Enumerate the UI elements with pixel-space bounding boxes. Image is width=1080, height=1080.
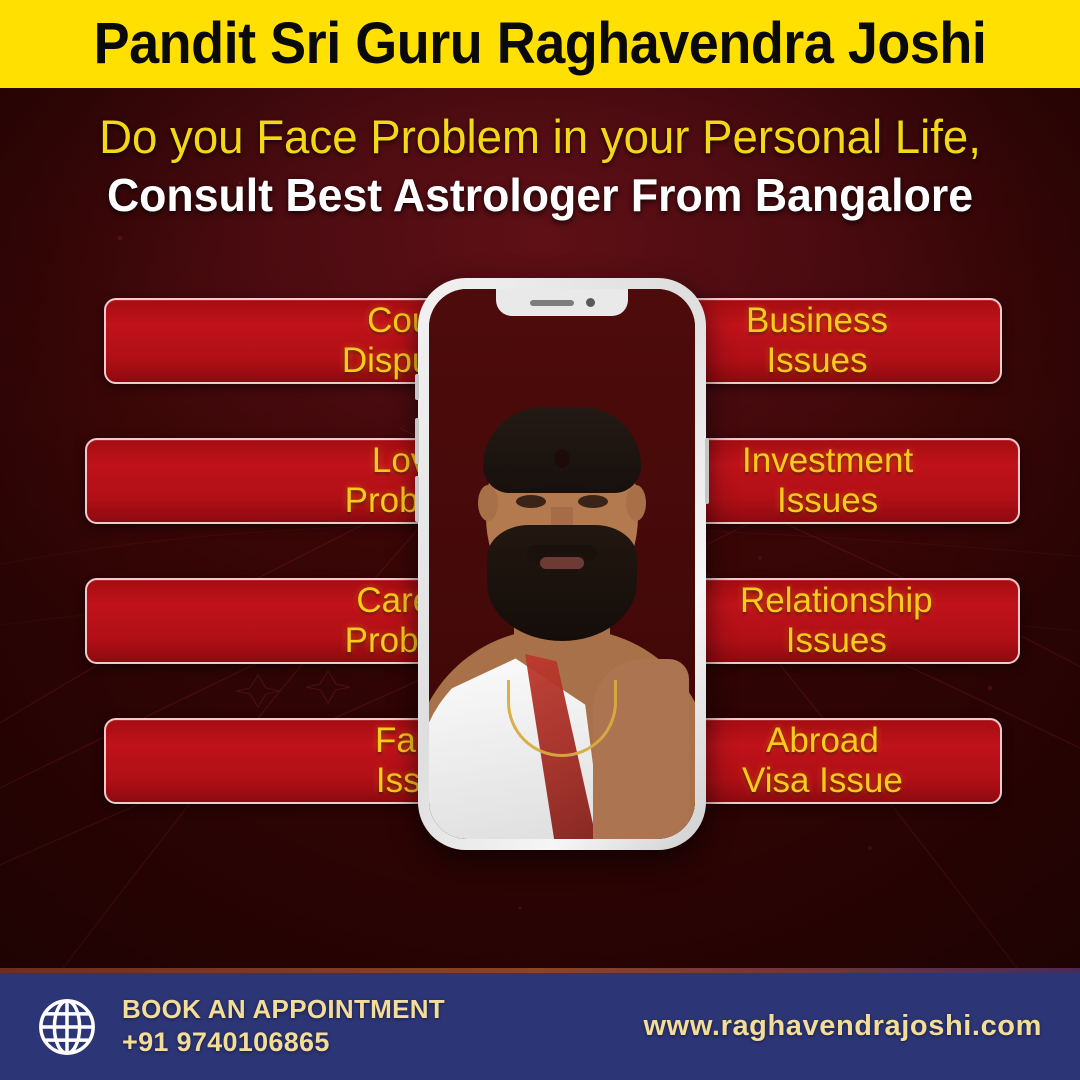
service-label: RelationshipIssues (740, 581, 933, 660)
headline-line-2: Consult Best Astrologer From Bangalore (16, 171, 1064, 220)
phone-volume-down-button (415, 476, 419, 522)
headline-line-1: Do you Face Problem in your Personal Lif… (16, 112, 1064, 162)
front-camera-icon (586, 298, 595, 307)
globe-icon (36, 996, 98, 1058)
service-label: InvestmentIssues (742, 441, 913, 520)
phone-silent-switch (415, 374, 419, 400)
astrologer-portrait (429, 289, 695, 839)
title-banner: Pandit Sri Guru Raghavendra Joshi (0, 0, 1080, 88)
page-title: Pandit Sri Guru Raghavendra Joshi (94, 15, 987, 73)
phone-power-button (705, 438, 709, 504)
speaker-grille-icon (530, 300, 574, 306)
footer-bar: BOOK AN APPOINTMENT +91 9740106865 www.r… (0, 973, 1080, 1080)
service-label: AbroadVisa Issue (742, 721, 903, 800)
footer-contact-block: BOOK AN APPOINTMENT +91 9740106865 (122, 995, 445, 1058)
phone-number[interactable]: +91 9740106865 (122, 1028, 445, 1058)
headline-block: Do you Face Problem in your Personal Lif… (0, 112, 1080, 220)
appointment-label: BOOK AN APPOINTMENT (122, 995, 445, 1024)
phone-volume-up-button (415, 418, 419, 464)
phone-screen (429, 289, 695, 839)
phone-mockup (418, 278, 706, 850)
service-label: BusinessIssues (746, 301, 888, 380)
website-url[interactable]: www.raghavendrajoshi.com (644, 1010, 1042, 1043)
poster-canvas: Pandit Sri Guru Raghavendra Joshi Do you… (0, 0, 1080, 1080)
phone-notch (496, 289, 628, 316)
